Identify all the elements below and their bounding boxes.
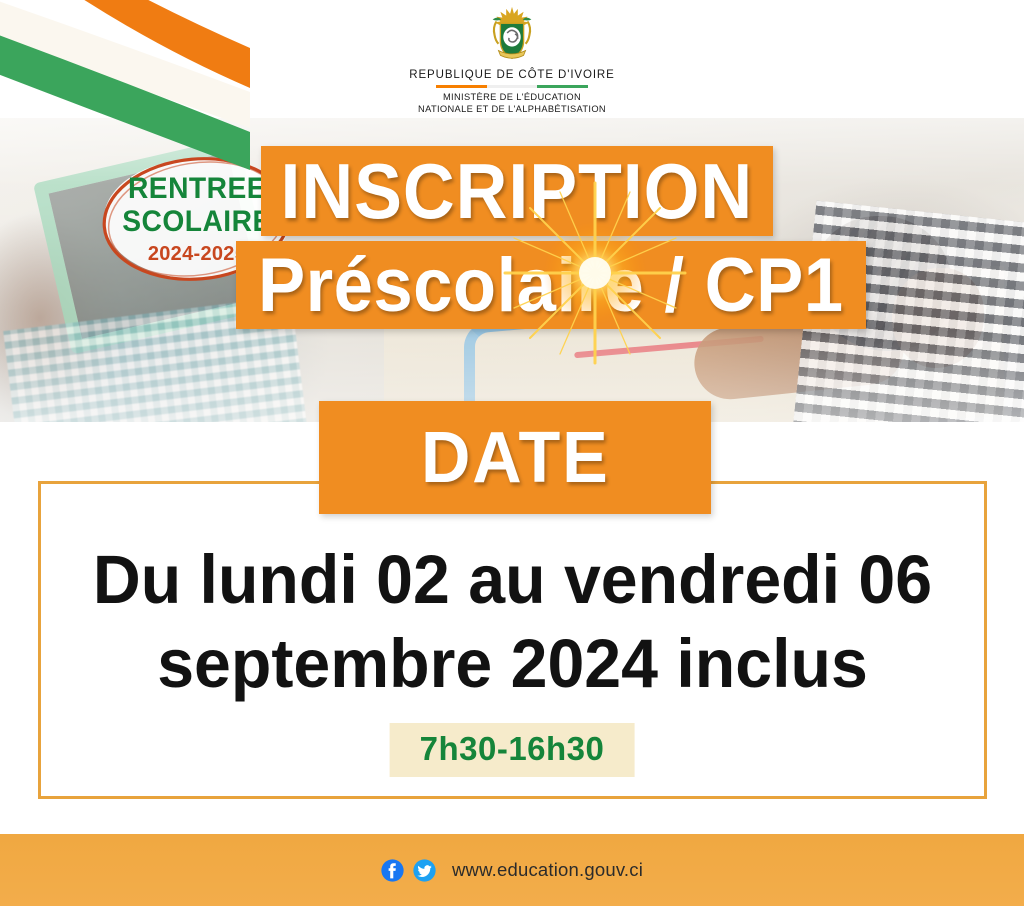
date-line-2: septembre 2024 inclus: [57, 622, 968, 706]
title-band-date: DATE: [319, 401, 711, 514]
ministry-title-line1: MINISTÈRE DE L'ÉDUCATION: [443, 92, 581, 104]
footer-bar: www.education.gouv.ci: [0, 834, 1024, 906]
title-band-prescolaire: Préscolaire / CP1: [236, 241, 866, 329]
title-band-inscription: INSCRIPTION: [261, 146, 773, 236]
facebook-icon[interactable]: [381, 859, 404, 882]
twitter-icon[interactable]: [413, 859, 436, 882]
flag-divider: [436, 85, 588, 88]
date-line-1: Du lundi 02 au vendredi 06: [57, 538, 968, 622]
poster-root: REPUBLIQUE DE CÔTE D'IVOIRE MINISTÈRE DE…: [0, 0, 1024, 906]
date-text-block: Du lundi 02 au vendredi 06 septembre 202…: [57, 538, 968, 706]
website-url[interactable]: www.education.gouv.ci: [452, 859, 643, 881]
header: REPUBLIQUE DE CÔTE D'IVOIRE MINISTÈRE DE…: [0, 0, 1024, 118]
ministry-title-line2: NATIONALE ET DE L'ALPHABÉTISATION: [418, 104, 606, 116]
title-prescolaire-cp1: Préscolaire / CP1: [258, 242, 843, 329]
opening-hours-badge: 7h30-16h30: [390, 723, 635, 777]
coat-of-arms-icon: [481, 4, 543, 66]
title-inscription: INSCRIPTION: [281, 146, 754, 237]
republic-title: REPUBLIQUE DE CÔTE D'IVOIRE: [409, 69, 614, 81]
title-date: DATE: [421, 417, 610, 499]
